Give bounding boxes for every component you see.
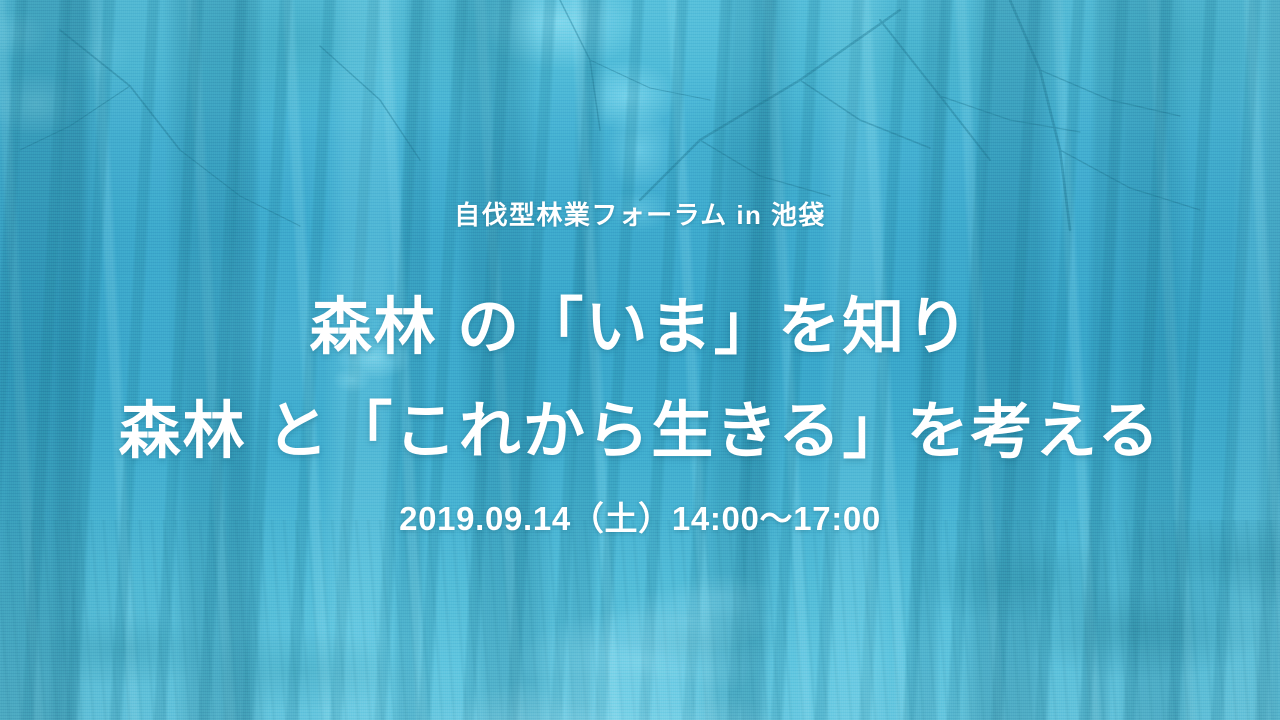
headline-line-1: 森林 の「いま」を知り: [0, 276, 1280, 380]
headline-line-2: 森林 と「これから生きる」を考える: [0, 380, 1280, 484]
event-series-title: 自伐型林業フォーラム in 池袋: [0, 200, 1280, 231]
event-poster: 自伐型林業フォーラム in 池袋 森林 の「いま」を知り 森林 と「これから生き…: [0, 0, 1280, 720]
poster-text-block: 自伐型林業フォーラム in 池袋 森林 の「いま」を知り 森林 と「これから生き…: [0, 0, 1280, 720]
event-datetime: 2019.09.14（土）14:00〜17:00: [0, 498, 1280, 539]
page-title: 森林 の「いま」を知り 森林 と「これから生きる」を考える: [0, 276, 1280, 484]
